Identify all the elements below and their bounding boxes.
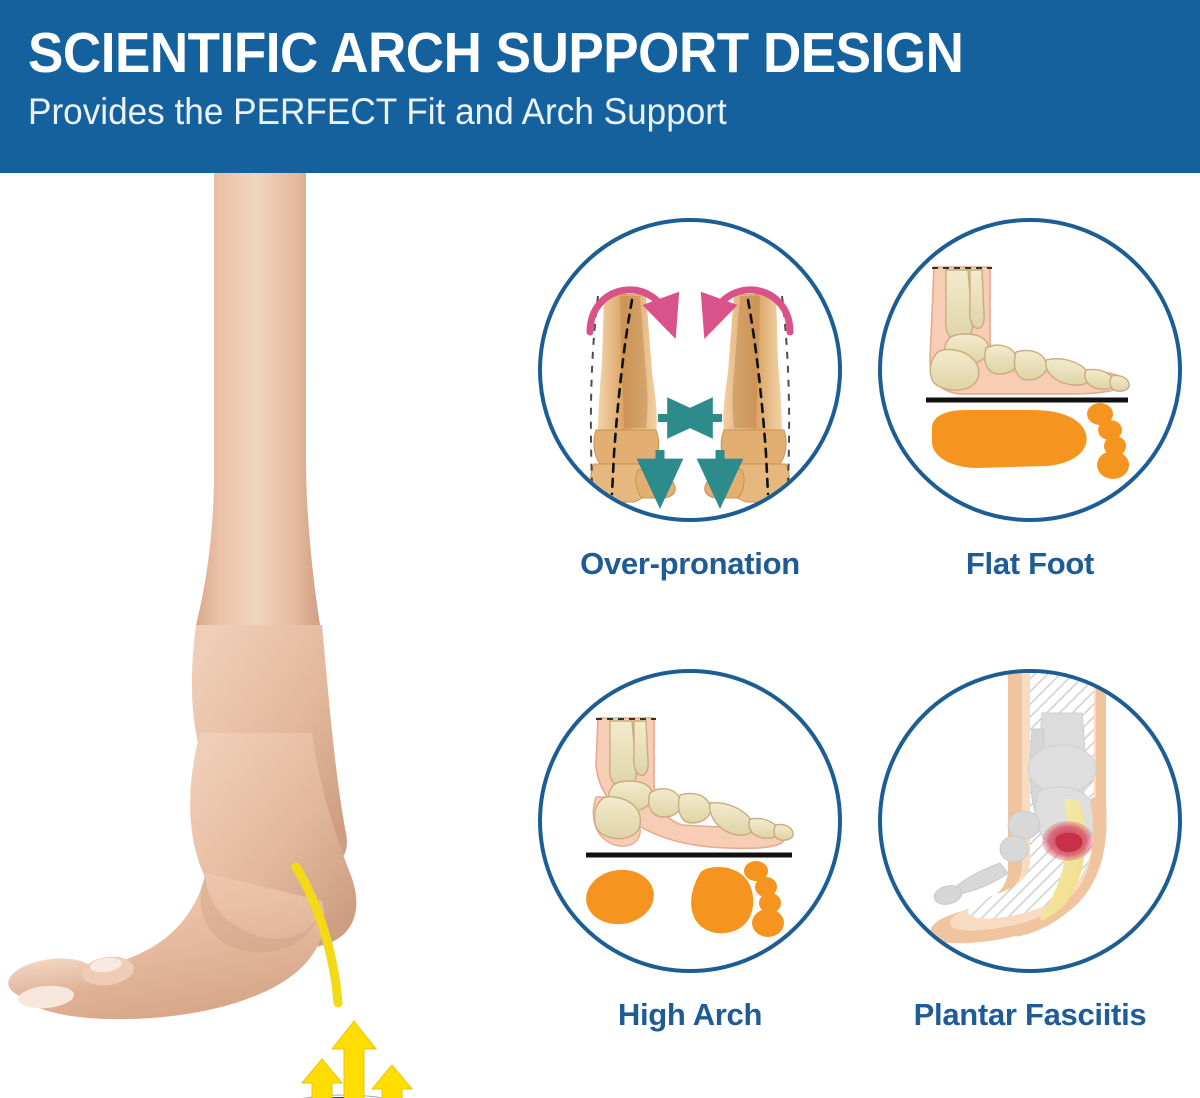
footprint-toe-big bbox=[752, 909, 784, 937]
condition-card-over-pronation[interactable]: Over-pronation bbox=[520, 196, 860, 647]
condition-circle-high-arch bbox=[538, 669, 842, 973]
condition-card-plantar-fasciitis[interactable]: Plantar Fasciitis bbox=[860, 647, 1200, 1098]
up-arrow-left bbox=[302, 1059, 342, 1098]
condition-circle-flat-foot bbox=[878, 218, 1182, 522]
flat-foot-navicular bbox=[985, 345, 1017, 374]
footprint-toe-big bbox=[1097, 451, 1129, 479]
right-talus bbox=[721, 430, 786, 464]
flat-foot-illustration bbox=[882, 222, 1178, 518]
infographic-page: SCIENTIFIC ARCH SUPPORT DESIGN Provides … bbox=[0, 0, 1200, 1098]
up-arrow-right bbox=[372, 1065, 412, 1098]
high-arch-phalanx-2 bbox=[774, 824, 793, 840]
flat-foot-fibula bbox=[970, 270, 984, 328]
over-pronation-illustration bbox=[542, 222, 838, 518]
condition-label-over-pronation: Over-pronation bbox=[520, 546, 860, 582]
condition-card-flat-foot[interactable]: Flat Foot bbox=[860, 196, 1200, 647]
flat-foot-phalanx-2 bbox=[1110, 375, 1129, 391]
condition-circle-plantar-fasciitis bbox=[878, 669, 1182, 973]
high-arch-cuneiform bbox=[679, 793, 711, 823]
high-arch-illustration bbox=[542, 673, 838, 969]
pf-metatarsals bbox=[955, 863, 1008, 894]
page-subtitle: Provides the PERFECT Fit and Arch Suppor… bbox=[28, 90, 1141, 134]
high-arch-fibula bbox=[634, 721, 648, 775]
conditions-grid: Over-pronation bbox=[520, 196, 1200, 1098]
pf-talus bbox=[1028, 745, 1096, 793]
flat-foot-footprint bbox=[932, 403, 1129, 479]
high-arch-navicular bbox=[649, 789, 681, 817]
lower-leg-shape bbox=[196, 173, 320, 625]
product-photo bbox=[0, 173, 540, 1098]
footprint-heel-blob bbox=[583, 866, 658, 929]
high-arch-footprint bbox=[583, 861, 784, 937]
footprint-forefoot-blob bbox=[691, 867, 753, 933]
condition-label-plantar-fasciitis: Plantar Fasciitis bbox=[860, 997, 1200, 1033]
up-arrow-center bbox=[332, 1021, 376, 1098]
pf-navicular bbox=[1008, 811, 1040, 839]
pf-cuneiform bbox=[1000, 836, 1028, 862]
left-talus bbox=[594, 430, 659, 464]
page-title: SCIENTIFIC ARCH SUPPORT DESIGN bbox=[28, 22, 1118, 84]
high-arch-tibia bbox=[610, 721, 637, 789]
flat-foot-tibia bbox=[946, 270, 973, 342]
condition-circle-over-pronation bbox=[538, 218, 842, 522]
upward-force-arrows bbox=[302, 1021, 412, 1098]
flat-foot-cuneiform bbox=[1015, 350, 1047, 380]
footprint-sole bbox=[932, 410, 1087, 468]
condition-label-high-arch: High Arch bbox=[520, 997, 860, 1033]
foot-with-arch-pad-illustration bbox=[0, 173, 540, 1098]
condition-label-flat-foot: Flat Foot bbox=[860, 546, 1200, 582]
header-banner: SCIENTIFIC ARCH SUPPORT DESIGN Provides … bbox=[0, 0, 1200, 173]
plantar-fasciitis-illustration bbox=[882, 673, 1178, 969]
condition-card-high-arch[interactable]: High Arch bbox=[520, 647, 860, 1098]
